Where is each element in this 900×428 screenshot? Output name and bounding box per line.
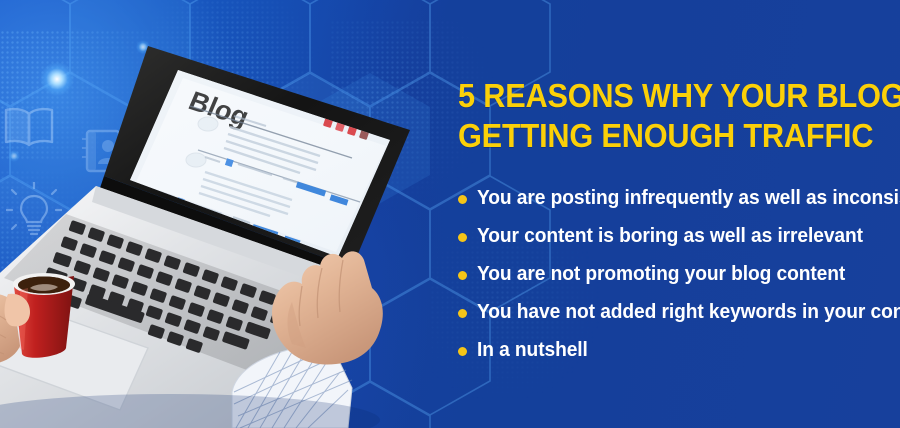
list-item: You have not added right keywords in you…: [458, 299, 900, 337]
list-item-label: You are not promoting your blog content: [477, 261, 845, 288]
laptop-photo: Blog: [0, 0, 470, 428]
bullet-dot-icon: [458, 271, 467, 280]
list-item: You are posting infrequently as well as …: [458, 185, 900, 223]
bullet-dot-icon: [458, 233, 467, 242]
page-title: 5 REASONS WHY YOUR BLOG IS GETTING ENOUG…: [458, 76, 900, 156]
list-item-label: You have not added right keywords in you…: [477, 299, 900, 326]
list-item: In a nutshell: [458, 337, 900, 375]
bullet-dot-icon: [458, 309, 467, 318]
list-item: Your content is boring as well as irrele…: [458, 223, 900, 261]
list-item-label: You are posting infrequently as well as …: [477, 185, 900, 212]
headline-line-1: 5 REASONS WHY YOUR BLOG IS: [458, 76, 900, 116]
list-item-label: Your content is boring as well as irrele…: [477, 223, 863, 250]
text-panel: 5 REASONS WHY YOUR BLOG IS GETTING ENOUG…: [455, 0, 900, 428]
bullet-dot-icon: [458, 347, 467, 356]
reasons-list: You are posting infrequently as well as …: [458, 185, 900, 375]
headline-line-2: GETTING ENOUGH TRAFFIC: [458, 116, 900, 156]
bullet-dot-icon: [458, 195, 467, 204]
banner-image: Blog: [0, 0, 900, 428]
list-item: You are not promoting your blog content: [458, 261, 900, 299]
list-item-label: In a nutshell: [477, 337, 588, 364]
